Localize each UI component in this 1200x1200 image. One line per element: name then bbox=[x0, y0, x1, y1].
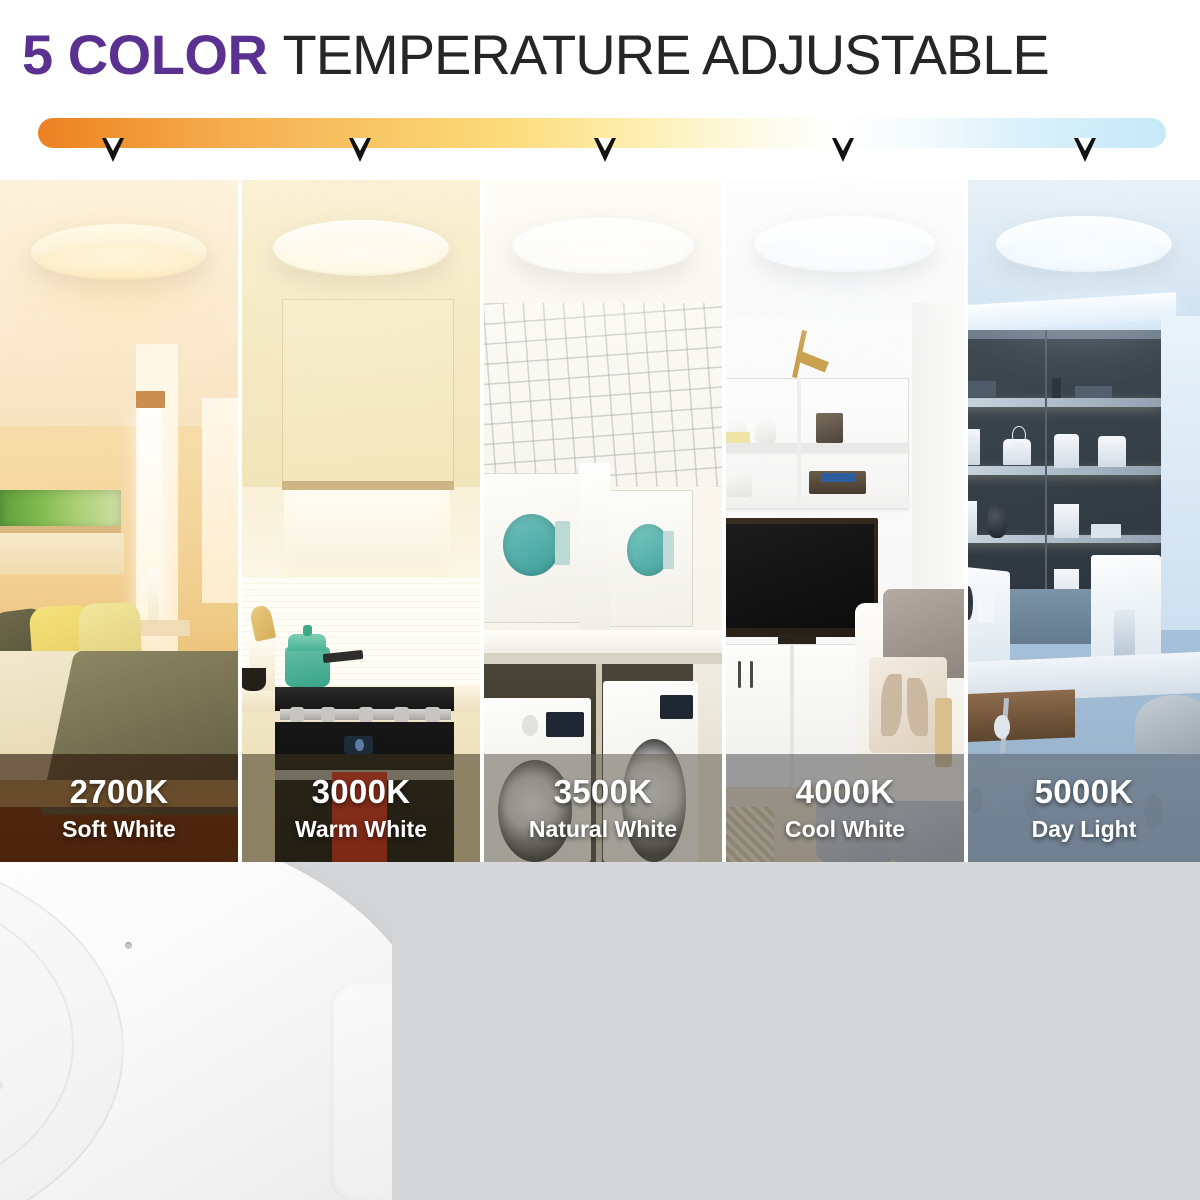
ceiling-lamp-5000k bbox=[996, 216, 1172, 272]
product-infographic: 5 COLOR TEMPERATURE ADJUSTABLE bbox=[0, 0, 1200, 1200]
ceiling-lamp-3000k bbox=[273, 220, 449, 276]
page-title: 5 COLOR TEMPERATURE ADJUSTABLE bbox=[22, 22, 1049, 88]
scene-panel-3000k[interactable]: 3000K Warm White bbox=[242, 180, 480, 862]
scene-panel-4000k[interactable]: 4000K Cool White bbox=[726, 180, 964, 862]
scale-tick-4000k bbox=[832, 138, 854, 162]
header: 5 COLOR TEMPERATURE ADJUSTABLE bbox=[0, 0, 1200, 110]
scene-panel-5000k[interactable]: 5000K Day Light bbox=[968, 180, 1200, 862]
ceiling-lamp-4000k bbox=[755, 216, 936, 272]
ceiling-lamp-2700k bbox=[31, 224, 207, 280]
ceiling-lamp-3500k bbox=[513, 218, 694, 274]
scene-name-label: Cool White bbox=[785, 814, 905, 844]
scene-name-label: Warm White bbox=[295, 814, 427, 844]
scene-caption-3500k: 3500K Natural White bbox=[484, 754, 722, 862]
toggle-switch-section: 5000K 4000K 3500K 3000K 2700K Toggle Swi… bbox=[0, 862, 1200, 1200]
scene-strip: 2700K Soft White bbox=[0, 180, 1200, 862]
title-rest: TEMPERATURE ADJUSTABLE bbox=[282, 23, 1048, 86]
backplate-side-bracket bbox=[330, 982, 392, 1200]
scale-tick-2700k bbox=[102, 138, 124, 162]
scale-tick-3500k bbox=[594, 138, 616, 162]
title-accent: 5 COLOR bbox=[22, 23, 267, 86]
scene-caption-3000k: 3000K Warm White bbox=[242, 754, 480, 862]
scene-kelvin-label: 4000K bbox=[796, 773, 895, 810]
color-temperature-scale bbox=[0, 118, 1200, 178]
scale-tick-5000k bbox=[1074, 138, 1096, 162]
scene-panel-2700k[interactable]: 2700K Soft White bbox=[0, 180, 238, 862]
scene-kelvin-label: 3500K bbox=[554, 773, 653, 810]
scene-caption-2700k: 2700K Soft White bbox=[0, 754, 238, 862]
scale-tick-3000k bbox=[349, 138, 371, 162]
scene-caption-4000k: 4000K Cool White bbox=[726, 754, 964, 862]
scene-name-label: Natural White bbox=[529, 814, 677, 844]
scene-panel-3500k[interactable]: 3500K Natural White bbox=[484, 180, 722, 862]
scene-name-label: Day Light bbox=[1032, 814, 1137, 844]
product-backplate-photo bbox=[0, 862, 392, 1200]
scene-name-label: Soft White bbox=[62, 814, 176, 844]
scene-caption-5000k: 5000K Day Light bbox=[968, 754, 1200, 862]
scene-kelvin-label: 5000K bbox=[1035, 773, 1134, 810]
scene-kelvin-label: 3000K bbox=[312, 773, 411, 810]
scene-kelvin-label: 2700K bbox=[70, 773, 169, 810]
screw-dot-2 bbox=[125, 942, 132, 949]
